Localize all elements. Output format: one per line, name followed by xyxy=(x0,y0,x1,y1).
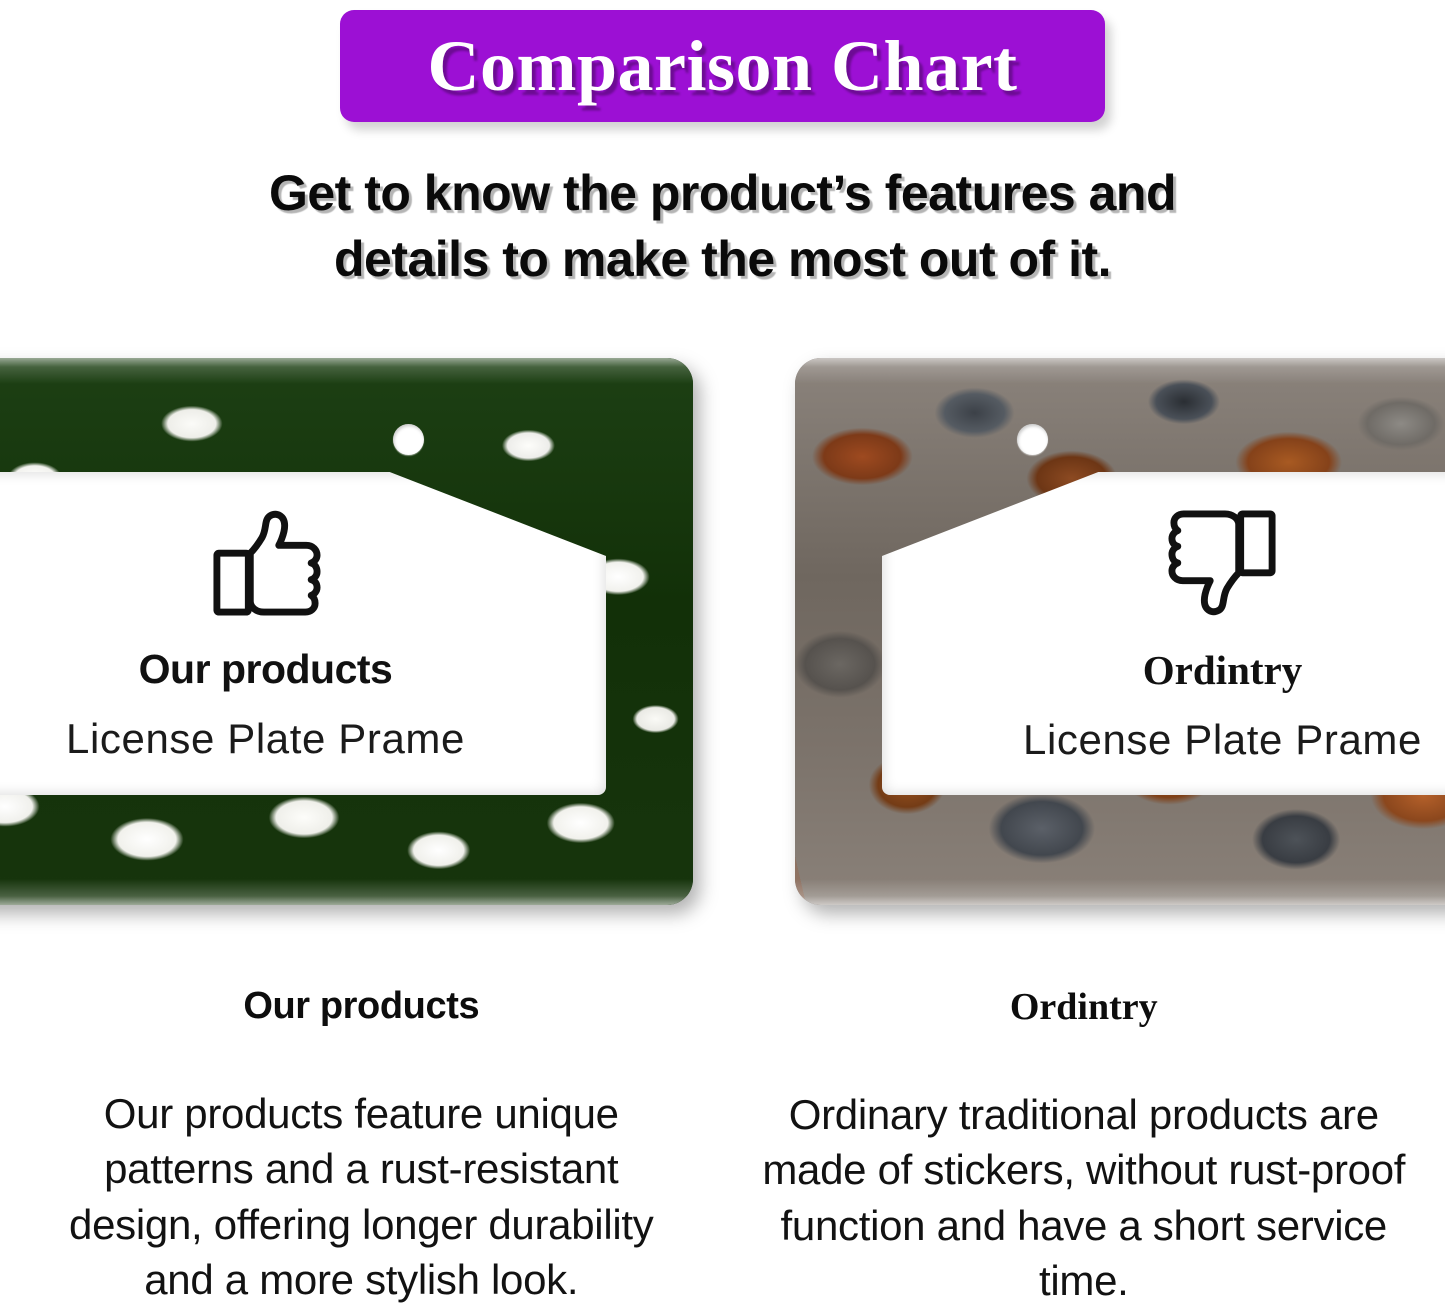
subtitle-line-1: Get to know the product’s features and xyxy=(70,160,1375,226)
left-window-subheading: License Plate Prame xyxy=(66,715,465,763)
right-window-subheading: License Plate Prame xyxy=(1023,716,1422,764)
page-title: Comparison Chart xyxy=(427,30,1017,102)
screw-hole-icon xyxy=(393,424,424,455)
screw-hole-icon xyxy=(1017,424,1048,455)
right-window-heading: Ordintry xyxy=(1143,646,1302,694)
left-column-heading: Our products xyxy=(36,985,687,1028)
thumbs-up-icon xyxy=(207,508,325,618)
right-column-heading: Ordintry xyxy=(759,985,1410,1029)
right-description-column: Ordintry Ordinary traditional products a… xyxy=(723,985,1445,1314)
description-columns: Our products Our products feature unique… xyxy=(0,985,1445,1314)
title-banner-background: Comparison Chart xyxy=(340,10,1105,122)
left-product-frame: Our products License Plate Prame xyxy=(0,358,693,905)
subtitle-line-2: details to make the most out of it. xyxy=(70,226,1375,292)
left-window-heading: Our products xyxy=(139,646,393,693)
left-column-body: Our products feature unique patterns and… xyxy=(36,1086,687,1308)
frame-comparison-row: Our products License Plate Prame xyxy=(0,358,1445,910)
thumbs-down-icon xyxy=(1164,508,1282,618)
subtitle: Get to know the product’s features and d… xyxy=(0,160,1445,292)
right-column-body: Ordinary traditional products are made o… xyxy=(759,1087,1410,1309)
right-product-frame: Ordintry License Plate Prame xyxy=(795,358,1445,905)
left-description-column: Our products Our products feature unique… xyxy=(0,985,723,1314)
title-banner: Comparison Chart xyxy=(340,10,1105,122)
